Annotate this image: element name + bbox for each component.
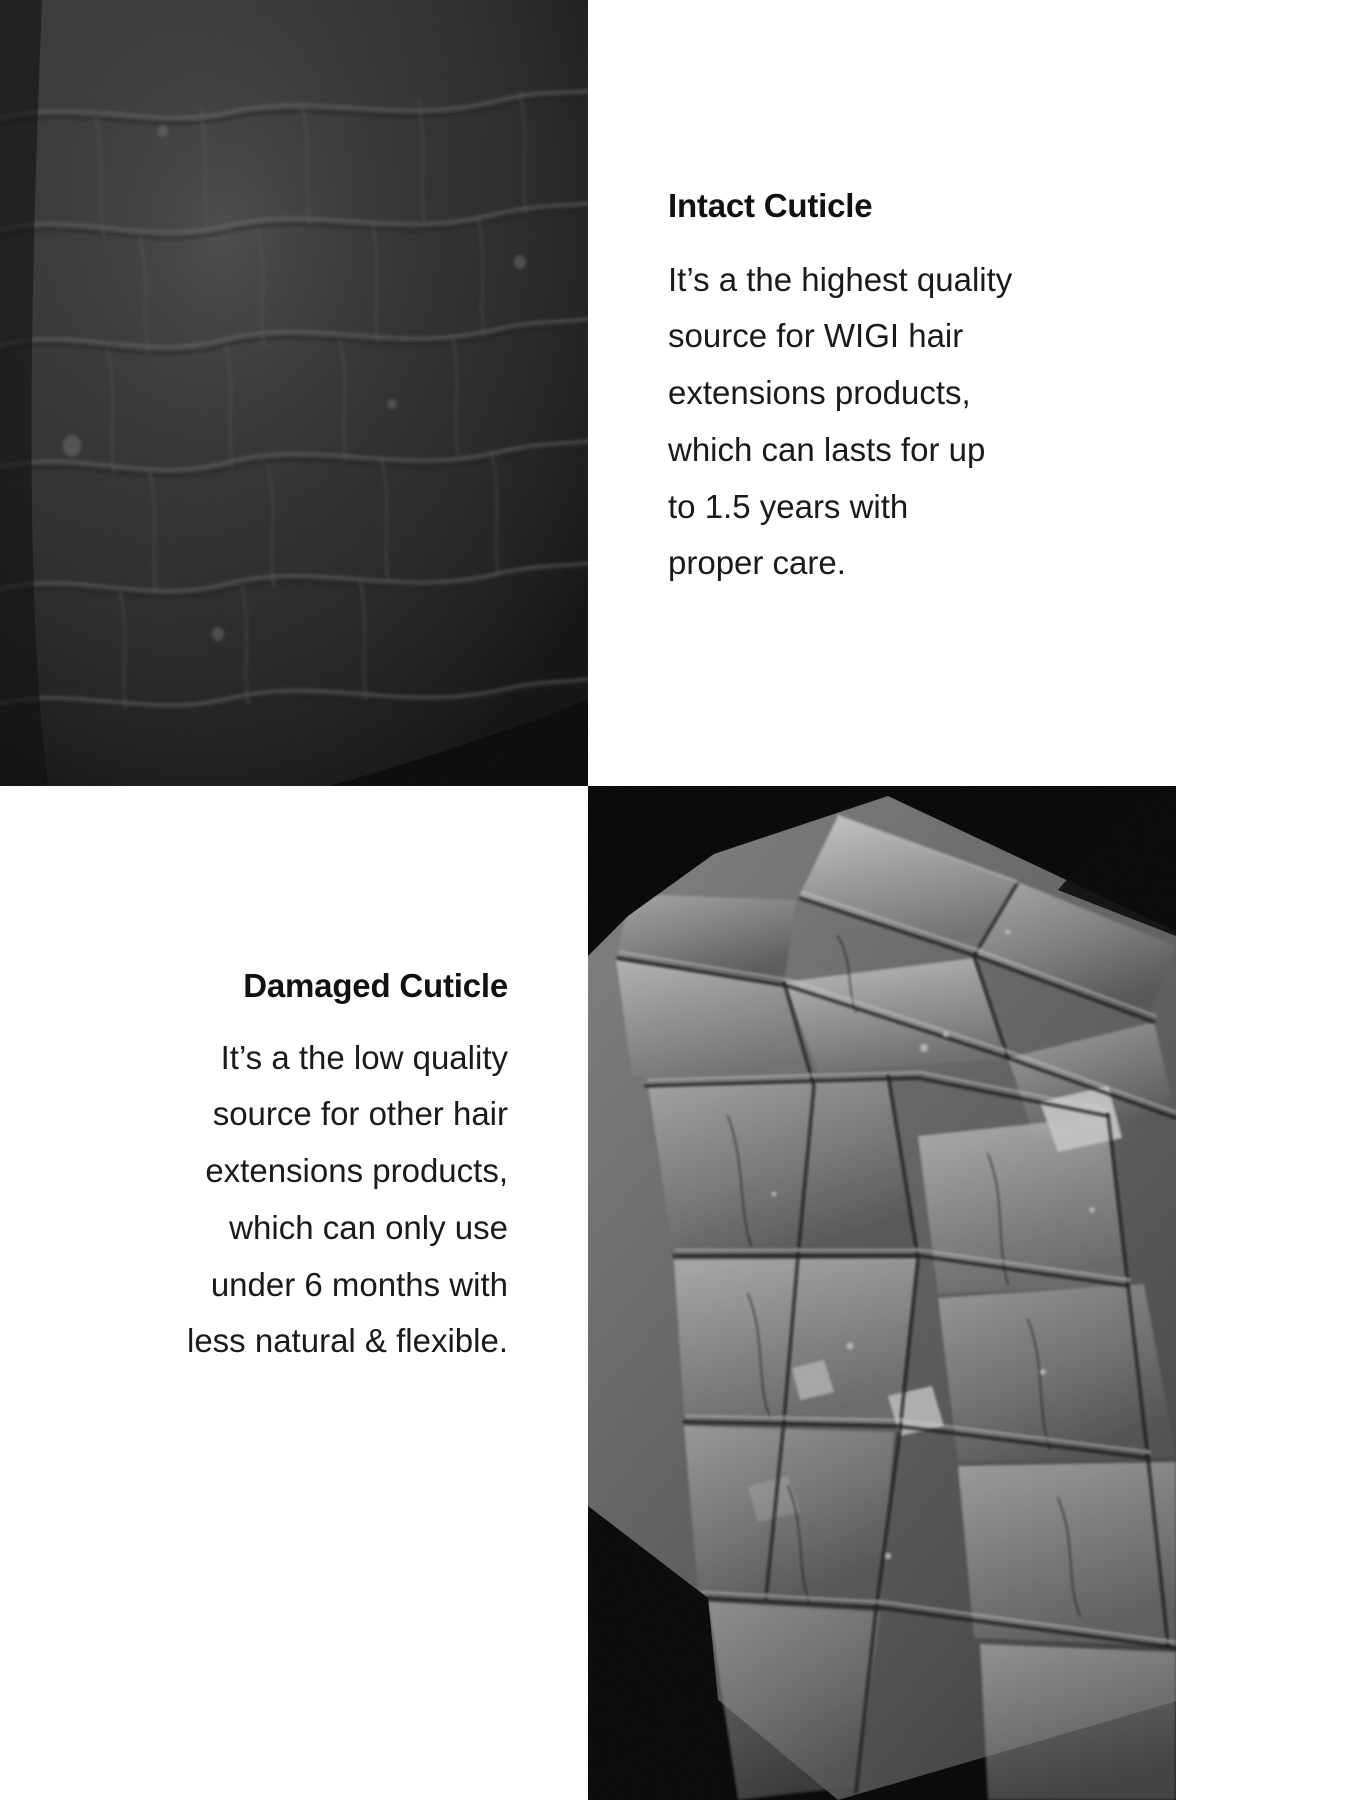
- body-line: extensions products,: [38, 1143, 508, 1200]
- intact-cuticle-text-block: Intact Cuticle It’s a the highest qualit…: [668, 186, 1138, 592]
- body-line: to 1.5 years with: [668, 479, 1138, 536]
- body-line: which can only use: [38, 1200, 508, 1257]
- body-line: under 6 months with: [38, 1257, 508, 1314]
- intact-cuticle-heading: Intact Cuticle: [668, 186, 1138, 226]
- damaged-cuticle-illustration: [588, 786, 1176, 1800]
- intact-cuticle-body: It’s a the highest quality source for WI…: [668, 252, 1138, 593]
- body-line: extensions products,: [668, 365, 1138, 422]
- body-line: which can lasts for up: [668, 422, 1138, 479]
- body-line: less natural & flexible.: [38, 1313, 508, 1370]
- body-line: It’s a the highest quality: [668, 252, 1138, 309]
- body-line: It’s a the low quality: [38, 1030, 508, 1087]
- intact-cuticle-illustration: [0, 0, 588, 786]
- damaged-cuticle-heading: Damaged Cuticle: [38, 966, 508, 1006]
- body-line: proper care.: [668, 535, 1138, 592]
- body-line: source for other hair: [38, 1086, 508, 1143]
- sem-micrograph-intact-cuticle: [0, 0, 588, 786]
- comparison-page: Intact Cuticle It’s a the highest qualit…: [0, 0, 1350, 1800]
- damaged-cuticle-text-block: Damaged Cuticle It’s a the low quality s…: [38, 966, 508, 1370]
- body-line: source for WIGI hair: [668, 308, 1138, 365]
- damaged-cuticle-body: It’s a the low quality source for other …: [38, 1030, 508, 1371]
- sem-micrograph-damaged-cuticle: [588, 786, 1176, 1800]
